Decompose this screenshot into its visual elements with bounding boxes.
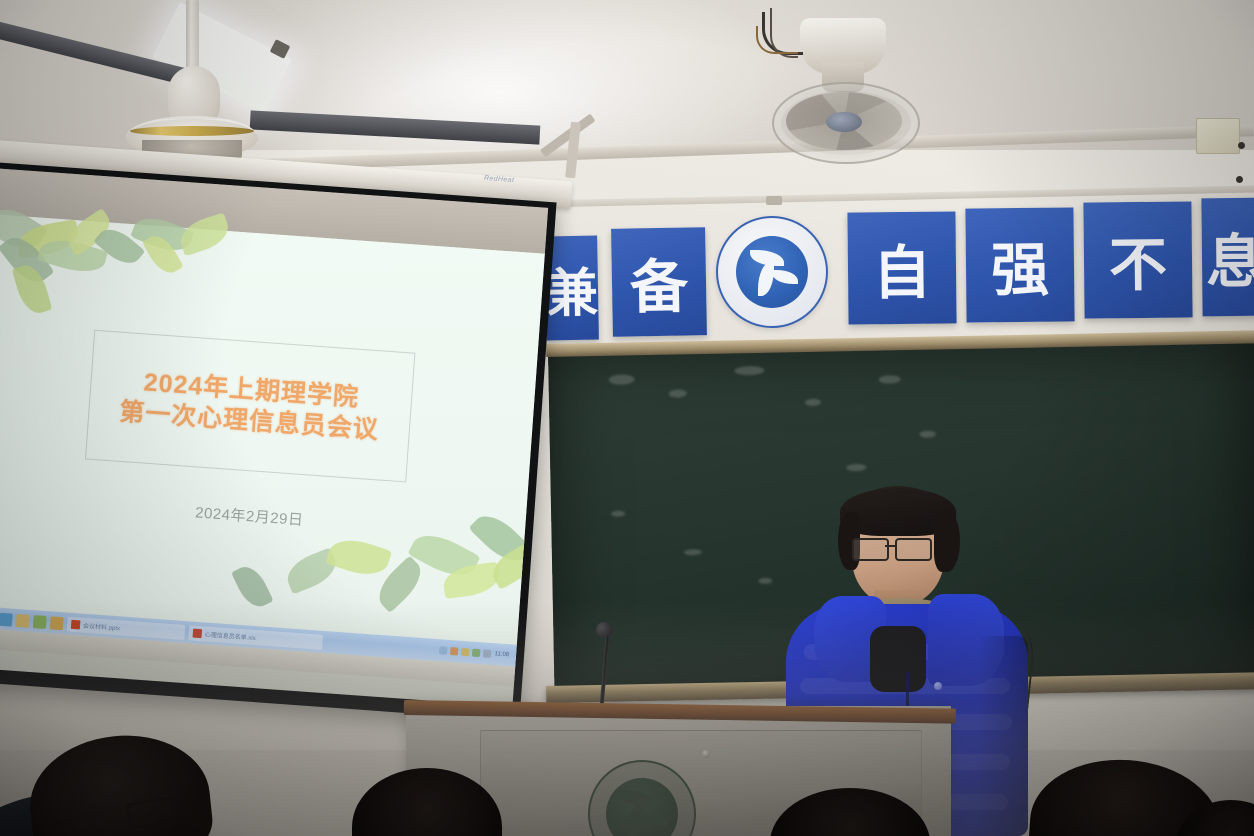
eyeglasses-lens <box>895 538 932 561</box>
electrical-junction-box <box>1196 118 1240 154</box>
wall-screw <box>766 196 782 205</box>
placard-character-6: 息 <box>1201 198 1254 317</box>
ceiling-fan-gold-trim <box>130 126 254 136</box>
university-emblem <box>716 216 828 328</box>
speaker-hair-side <box>934 510 960 572</box>
slide-title-box: 2024年上期理学院 第一次心理信息员会议 <box>85 330 415 483</box>
eyeglasses-bridge <box>885 545 897 547</box>
presentation-slide: 2024年上期理学院 第一次心理信息员会议 2024年2月29日 <box>0 214 545 666</box>
placard-character-3: 自 <box>847 211 956 324</box>
placard-character-1: 兼 <box>545 236 599 341</box>
slide-date: 2024年2月29日 <box>0 486 525 546</box>
placard-character-4: 强 <box>965 207 1074 322</box>
electrical-wire <box>756 26 798 54</box>
wall-screw <box>1238 142 1245 149</box>
classroom-photo: 兼 备 自 强 不 息 RedHeat <box>0 0 1254 836</box>
placard-character-5: 不 <box>1083 201 1192 318</box>
placard-character-2: 备 <box>611 227 707 337</box>
wall-screw <box>1236 176 1243 183</box>
ceiling-fan-rod <box>186 0 199 74</box>
wall-fan-hub <box>826 112 862 132</box>
eyeglasses-lens <box>852 538 889 561</box>
